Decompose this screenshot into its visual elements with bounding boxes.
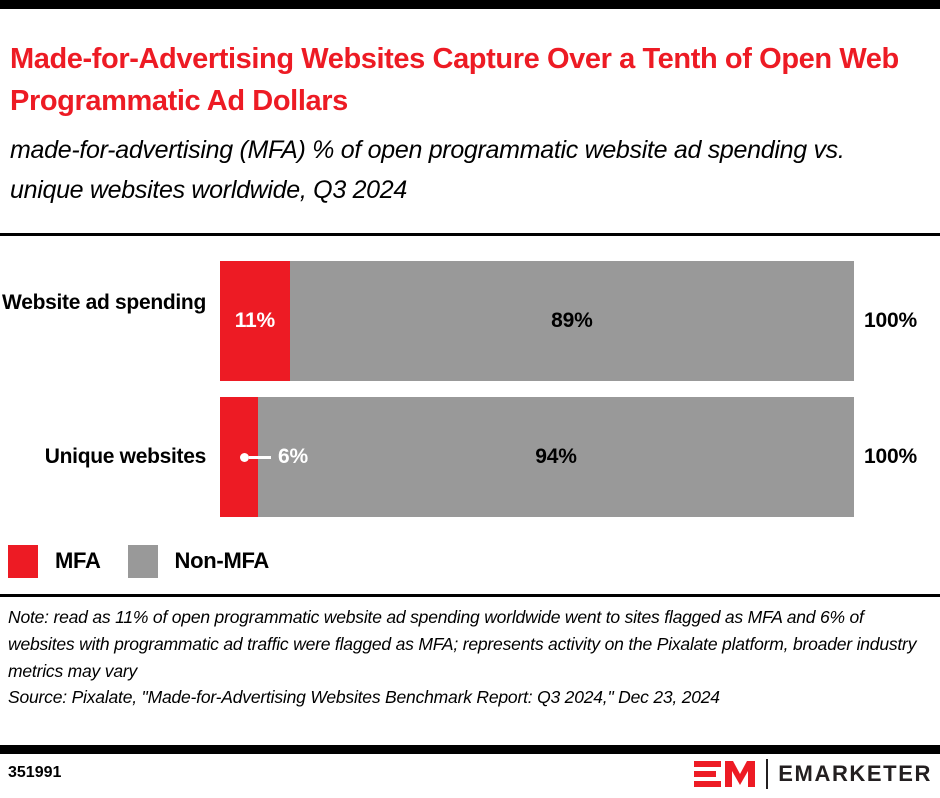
segment-value-mfa: 11% [235, 309, 275, 333]
chart-row: Website ad spending 11% 89% 100% [0, 261, 940, 381]
brand-wordmark: EMARKETER [778, 761, 932, 787]
legend-swatch-non-mfa-icon [128, 545, 158, 578]
category-label: Website ad spending [0, 289, 206, 317]
category-label: Unique websites [0, 443, 206, 471]
bar-segment-non-mfa: 94% [258, 397, 854, 517]
top-rule [0, 0, 940, 9]
em-logo-icon [694, 759, 756, 789]
source-text: Source: Pixalate, "Made-for-Advertising … [8, 684, 928, 711]
legend-item-mfa: MFA [8, 545, 101, 578]
notes-divider [0, 594, 940, 597]
bar-segment-mfa: 11% [220, 261, 290, 381]
chart-id: 351991 [8, 764, 61, 782]
chart-legend: MFA Non-MFA [8, 543, 296, 579]
stacked-bar: 94% 6% [220, 397, 854, 517]
stacked-bar: 11% 89% [220, 261, 854, 381]
page-subtitle: made-for-advertising (MFA) % of open pro… [10, 131, 920, 211]
note-text: Note: read as 11% of open programmatic w… [8, 604, 928, 684]
chart-notes: Note: read as 11% of open programmatic w… [8, 604, 928, 711]
segment-value-non-mfa: 94% [535, 445, 576, 469]
bottom-rule [0, 745, 940, 754]
segment-value-non-mfa: 89% [551, 309, 592, 333]
chart-row: Unique websites 94% 6% 100% [0, 397, 940, 517]
bar-segment-non-mfa: 89% [290, 261, 854, 381]
legend-label-mfa: MFA [55, 548, 101, 574]
chart-plot-area: Website ad spending 11% 89% 100% Unique … [0, 236, 940, 526]
chart-figure: Made-for-Advertising Websites Capture Ov… [0, 0, 940, 798]
bar-segment-mfa [220, 397, 258, 517]
page-title: Made-for-Advertising Websites Capture Ov… [10, 39, 910, 121]
logo-divider [766, 759, 768, 789]
legend-swatch-mfa-icon [8, 545, 38, 578]
row-total-label: 100% [864, 445, 940, 469]
legend-label-non-mfa: Non-MFA [175, 548, 269, 574]
emarketer-logo: EMARKETER [694, 759, 932, 789]
legend-item-non-mfa: Non-MFA [128, 545, 269, 578]
row-total-label: 100% [864, 309, 940, 333]
